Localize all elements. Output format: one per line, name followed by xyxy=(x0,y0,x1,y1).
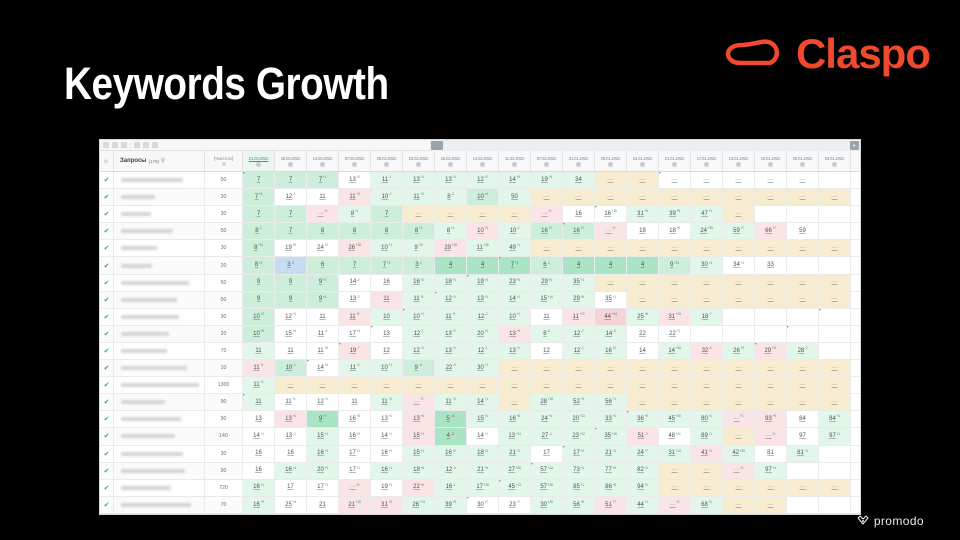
position-cell[interactable] xyxy=(755,326,787,342)
position-cell[interactable]: 11+38 xyxy=(467,240,499,256)
position-cell[interactable]: — xyxy=(819,292,851,308)
position-cell[interactable]: 7+1 xyxy=(499,257,531,273)
position-cell[interactable] xyxy=(787,497,819,513)
toolbar-icon-group[interactable] xyxy=(100,142,158,148)
position-cell[interactable]: 16+2 xyxy=(403,275,435,291)
header-date-column[interactable]: 21.01.2022 xyxy=(659,151,691,171)
position-cell[interactable]: 11 xyxy=(307,309,339,325)
position-cell[interactable]: — xyxy=(403,206,435,222)
position-cell[interactable]: — xyxy=(659,240,691,256)
position-cell[interactable]: 12-2 xyxy=(563,326,595,342)
position-cell[interactable]: 16+9 xyxy=(243,497,275,513)
position-cell[interactable]: 21 xyxy=(307,497,339,513)
position-cell[interactable]: — xyxy=(819,394,851,410)
position-cell[interactable]: 20+13 xyxy=(563,411,595,427)
position-cell[interactable]: 8-6 xyxy=(531,326,563,342)
position-cell[interactable]: — xyxy=(659,189,691,205)
position-cell[interactable]: — xyxy=(787,360,819,376)
position-cell[interactable]: 16 xyxy=(563,206,595,222)
position-cell[interactable]: 50 xyxy=(499,189,531,205)
keyword-cell[interactable] xyxy=(114,463,205,479)
position-cell[interactable]: — xyxy=(691,172,723,188)
chevron-right-icon[interactable] xyxy=(850,141,859,150)
position-cell[interactable]: 25+6 xyxy=(627,309,659,325)
position-cell[interactable]: 11+3 xyxy=(339,189,371,205)
position-cell[interactable]: — xyxy=(595,189,627,205)
keyword-cell[interactable] xyxy=(114,480,205,496)
column-menu-icon[interactable] xyxy=(832,162,837,167)
position-cell[interactable]: 47+1 xyxy=(691,206,723,222)
position-cell[interactable]: 11 xyxy=(531,309,563,325)
position-cell[interactable]: — xyxy=(627,275,659,291)
position-cell[interactable]: 16+2 xyxy=(339,428,371,444)
position-cell[interactable]: 33+4 xyxy=(595,411,627,427)
column-menu-icon[interactable] xyxy=(480,162,485,167)
position-cell[interactable]: — xyxy=(307,377,339,393)
position-cell[interactable]: 17+4 xyxy=(563,446,595,462)
position-cell[interactable]: 7 xyxy=(243,172,275,188)
position-cell[interactable] xyxy=(755,206,787,222)
position-cell[interactable]: 28+15 xyxy=(531,394,563,410)
position-cell[interactable]: 80+1 xyxy=(691,411,723,427)
position-cell[interactable]: 11+3 xyxy=(371,394,403,410)
position-cell[interactable]: 9 xyxy=(243,275,275,291)
column-menu-icon[interactable] xyxy=(640,162,645,167)
position-cell[interactable] xyxy=(723,309,755,325)
position-cell[interactable]: — xyxy=(435,377,467,393)
table-row[interactable]: ✔70111111+819-71212+113+112-113+11212-21… xyxy=(100,343,860,360)
position-cell[interactable] xyxy=(819,206,851,222)
position-cell[interactable]: — xyxy=(723,172,755,188)
spreadsheet-toolbar[interactable] xyxy=(100,140,860,151)
position-cell[interactable]: 73+4 xyxy=(563,463,595,479)
filter-icon[interactable] xyxy=(121,142,127,148)
position-cell[interactable]: 11-6 xyxy=(307,326,339,342)
position-cell[interactable] xyxy=(787,309,819,325)
row-check-icon[interactable]: ✔ xyxy=(100,480,114,496)
position-cell[interactable]: 59+7 xyxy=(723,223,755,239)
position-cell[interactable]: 12-1 xyxy=(467,343,499,359)
row-check-icon[interactable]: ✔ xyxy=(100,309,114,325)
position-cell[interactable] xyxy=(819,446,851,462)
position-cell[interactable]: 12+1 xyxy=(403,343,435,359)
position-cell[interactable]: 15+1 xyxy=(467,411,499,427)
position-cell[interactable]: 14+1 xyxy=(499,292,531,308)
position-cell[interactable]: — xyxy=(691,275,723,291)
position-cell[interactable]: 14+1 xyxy=(467,394,499,410)
position-cell[interactable]: 8+1 xyxy=(339,206,371,222)
position-cell[interactable] xyxy=(787,206,819,222)
row-check-icon[interactable]: ✔ xyxy=(100,292,114,308)
position-cell[interactable]: 24+35 xyxy=(691,223,723,239)
position-cell[interactable] xyxy=(787,463,819,479)
position-cell[interactable]: 68+1 xyxy=(691,497,723,513)
position-cell[interactable]: 51+7 xyxy=(595,497,627,513)
position-cell[interactable]: 13+2 xyxy=(339,172,371,188)
position-cell[interactable]: 19+5 xyxy=(275,240,307,256)
position-cell[interactable]: — xyxy=(787,189,819,205)
position-cell[interactable]: — xyxy=(563,377,595,393)
header-date-column[interactable]: 05.01.2022 xyxy=(787,151,819,171)
position-cell[interactable]: — xyxy=(787,240,819,256)
position-cell[interactable]: 4 xyxy=(435,257,467,273)
column-menu-icon[interactable] xyxy=(416,162,421,167)
grid-icon[interactable] xyxy=(112,142,118,148)
position-cell[interactable]: — xyxy=(595,377,627,393)
position-cell[interactable]: 9+7 xyxy=(307,411,339,427)
position-cell[interactable]: 12+1 xyxy=(435,292,467,308)
position-cell[interactable]: 93+9 xyxy=(755,411,787,427)
position-cell[interactable]: 49+1 xyxy=(499,240,531,256)
position-cell[interactable]: 14+18 xyxy=(659,343,691,359)
column-menu-icon[interactable] xyxy=(800,162,805,167)
header-date-column[interactable]: 31.01.2022 xyxy=(563,151,595,171)
position-cell[interactable]: — xyxy=(499,206,531,222)
header-date-column[interactable]: 29.01.2022 xyxy=(595,151,627,171)
position-cell[interactable]: 16+1 xyxy=(371,446,403,462)
settings-icon[interactable] xyxy=(143,142,149,148)
position-cell[interactable]: — xyxy=(691,189,723,205)
row-check-icon[interactable]: ✔ xyxy=(100,377,114,393)
position-cell[interactable]: — xyxy=(723,206,755,222)
position-cell[interactable] xyxy=(819,309,851,325)
position-cell[interactable]: 11 xyxy=(307,189,339,205)
position-cell[interactable]: 97+4 xyxy=(755,463,787,479)
position-cell[interactable]: 56+1 xyxy=(595,394,627,410)
position-cell[interactable]: — xyxy=(659,172,691,188)
position-cell[interactable]: 10+2 xyxy=(243,309,275,325)
position-cell[interactable]: 27+30 xyxy=(499,463,531,479)
position-cell[interactable] xyxy=(787,326,819,342)
column-menu-icon[interactable] xyxy=(448,162,453,167)
magnifier-icon[interactable]: ⚲ xyxy=(161,158,165,164)
position-cell[interactable]: 13-2 xyxy=(339,292,371,308)
position-cell[interactable]: 45+40 xyxy=(659,411,691,427)
position-cell[interactable]: 11 xyxy=(371,292,403,308)
column-menu-icon[interactable] xyxy=(512,162,517,167)
position-cell[interactable]: 19+5 xyxy=(531,172,563,188)
position-cell[interactable]: 10+5 xyxy=(243,326,275,342)
position-cell[interactable]: 12-9 xyxy=(435,463,467,479)
position-cell[interactable]: 20+3 xyxy=(307,463,339,479)
position-cell[interactable]: 4 xyxy=(563,257,595,273)
position-cell[interactable]: 11+3 xyxy=(403,189,435,205)
position-cell[interactable]: — xyxy=(787,394,819,410)
position-cell[interactable] xyxy=(819,497,851,513)
position-cell[interactable]: — xyxy=(499,360,531,376)
position-cell[interactable]: 31+8 xyxy=(627,206,659,222)
position-cell[interactable]: —+1 xyxy=(307,206,339,222)
position-cell[interactable]: — xyxy=(659,292,691,308)
row-check-icon[interactable]: ✔ xyxy=(100,343,114,359)
header-date-column[interactable]: 24.01.2022 xyxy=(627,151,659,171)
header-date-column[interactable]: 18.03.2022 xyxy=(275,151,307,171)
table-row[interactable]: ✔9010+212+11111+11010+111+112-210+11111+… xyxy=(100,309,860,326)
position-cell[interactable]: — xyxy=(563,189,595,205)
position-cell[interactable]: — xyxy=(691,377,723,393)
position-cell[interactable]: 14+1 xyxy=(467,428,499,444)
position-cell[interactable]: 9 xyxy=(275,275,307,291)
column-menu-icon[interactable] xyxy=(576,162,581,167)
position-cell[interactable]: 15+1 xyxy=(403,446,435,462)
position-cell[interactable]: — xyxy=(659,394,691,410)
position-cell[interactable]: 51-3 xyxy=(627,428,659,444)
position-cell[interactable]: 18-7 xyxy=(691,309,723,325)
position-cell[interactable]: 7+1 xyxy=(307,172,339,188)
position-cell[interactable]: 28-2 xyxy=(787,343,819,359)
position-cell[interactable]: 77+5 xyxy=(595,463,627,479)
position-cell[interactable]: — xyxy=(723,240,755,256)
position-cell[interactable]: 12-1 xyxy=(275,189,307,205)
position-cell[interactable]: 27-4 xyxy=(531,428,563,444)
position-cell[interactable]: — xyxy=(755,497,787,513)
position-cell[interactable]: — xyxy=(723,189,755,205)
position-cell[interactable]: 10+1 xyxy=(499,309,531,325)
position-cell[interactable]: 23+7 xyxy=(499,497,531,513)
position-cell[interactable]: 10-4 xyxy=(275,360,307,376)
header-date-column[interactable]: 23.02.2022 xyxy=(403,151,435,171)
position-cell[interactable]: 10+1 xyxy=(371,240,403,256)
position-cell[interactable]: —+1 xyxy=(339,480,371,496)
position-cell[interactable]: 11+3 xyxy=(435,394,467,410)
position-cell[interactable]: 16 xyxy=(243,463,275,479)
position-cell[interactable]: 13+1 xyxy=(403,172,435,188)
position-cell[interactable]: 4 xyxy=(627,257,659,273)
position-cell[interactable]: 17+4 xyxy=(339,326,371,342)
position-cell[interactable]: 11+1 xyxy=(339,309,371,325)
position-cell[interactable]: 18 xyxy=(627,223,659,239)
position-cell[interactable]: 13+7 xyxy=(435,326,467,342)
header-keyword-column[interactable]: Запросы (179) ⚲ xyxy=(114,151,205,171)
keyword-cell[interactable] xyxy=(114,189,205,205)
position-cell[interactable]: 12+2 xyxy=(467,172,499,188)
position-cell[interactable]: 5-10 xyxy=(435,411,467,427)
row-check-icon[interactable]: ✔ xyxy=(100,223,114,239)
position-cell[interactable]: — xyxy=(755,292,787,308)
position-cell[interactable]: 6 xyxy=(307,257,339,273)
position-cell[interactable]: 16+1 xyxy=(307,446,339,462)
position-cell[interactable]: 57+28 xyxy=(531,480,563,496)
position-cell[interactable] xyxy=(819,463,851,479)
keyword-cell[interactable] xyxy=(114,309,205,325)
position-cell[interactable] xyxy=(819,257,851,273)
keyword-cell[interactable] xyxy=(114,446,205,462)
table-row[interactable]: ✔901111+112+11111+3—+111+314+1—28+1552+6… xyxy=(100,394,860,411)
position-cell[interactable]: 15+1 xyxy=(403,428,435,444)
position-cell[interactable]: 10+3 xyxy=(467,223,499,239)
position-cell[interactable]: 42+39 xyxy=(723,446,755,462)
position-cell[interactable]: 7 xyxy=(275,172,307,188)
keyword-cell[interactable] xyxy=(114,326,205,342)
position-cell[interactable]: 11+8 xyxy=(307,343,339,359)
table-row[interactable]: ✔308+1119+524+226+1810+19-2029+1811+3849… xyxy=(100,240,860,257)
position-cell[interactable]: 21+10 xyxy=(339,497,371,513)
position-cell[interactable]: — xyxy=(627,240,659,256)
row-check-icon[interactable]: ✔ xyxy=(100,275,114,291)
position-cell[interactable]: — xyxy=(723,394,755,410)
position-cell[interactable]: 16+4 xyxy=(275,463,307,479)
position-cell[interactable]: — xyxy=(691,240,723,256)
position-cell[interactable]: 16 xyxy=(371,275,403,291)
position-cell[interactable] xyxy=(691,326,723,342)
position-cell[interactable]: — xyxy=(723,480,755,496)
position-cell[interactable]: 66+7 xyxy=(755,223,787,239)
position-cell[interactable]: 20+1 xyxy=(467,326,499,342)
position-cell[interactable]: 14+1 xyxy=(371,428,403,444)
position-cell[interactable]: 17+1 xyxy=(307,480,339,496)
position-cell[interactable]: — xyxy=(723,275,755,291)
position-cell[interactable]: 11-3 xyxy=(339,360,371,376)
row-check-icon[interactable]: ✔ xyxy=(100,360,114,376)
position-cell[interactable]: — xyxy=(531,189,563,205)
position-cell[interactable] xyxy=(755,309,787,325)
position-cell[interactable]: 19+3 xyxy=(371,480,403,496)
position-cell[interactable]: — xyxy=(787,377,819,393)
position-cell[interactable]: 16-1 xyxy=(435,480,467,496)
columns-icon[interactable] xyxy=(134,142,140,148)
position-cell[interactable]: 9 xyxy=(275,292,307,308)
position-cell[interactable]: — xyxy=(723,428,755,444)
position-cell[interactable]: 14+1 xyxy=(243,428,275,444)
table-row[interactable]: ✔2010+515+411-617+41312-113+720+113+58-6… xyxy=(100,326,860,343)
position-cell[interactable]: 22+1 xyxy=(659,326,691,342)
position-cell[interactable]: 19-7 xyxy=(339,343,371,359)
position-cell[interactable]: — xyxy=(659,275,691,291)
position-cell[interactable]: — xyxy=(499,394,531,410)
position-cell[interactable]: 12 xyxy=(371,343,403,359)
position-cell[interactable]: 19+4 xyxy=(467,275,499,291)
position-cell[interactable]: — xyxy=(691,292,723,308)
position-cell[interactable]: 29+6 xyxy=(531,275,563,291)
row-check-icon[interactable]: ✔ xyxy=(100,394,114,410)
position-cell[interactable]: —+1 xyxy=(595,223,627,239)
position-cell[interactable]: 8+11 xyxy=(243,240,275,256)
column-menu-icon[interactable] xyxy=(256,162,261,167)
position-cell[interactable]: 86+8 xyxy=(595,480,627,496)
position-cell[interactable]: 48+41 xyxy=(659,428,691,444)
table-row[interactable]: ✔50999+413-21111+112+113+114+115+1429+63… xyxy=(100,292,860,309)
position-cell[interactable]: — xyxy=(531,240,563,256)
position-cell[interactable]: 15+1 xyxy=(307,428,339,444)
position-cell[interactable]: 13+4 xyxy=(275,411,307,427)
position-cell[interactable]: — xyxy=(499,377,531,393)
keyword-cell[interactable] xyxy=(114,223,205,239)
column-menu-icon[interactable] xyxy=(352,162,357,167)
position-cell[interactable]: — xyxy=(531,360,563,376)
keyword-cell[interactable] xyxy=(114,394,205,410)
position-cell[interactable]: 13+1 xyxy=(371,411,403,427)
position-cell[interactable]: 85+1 xyxy=(563,480,595,496)
position-cell[interactable]: — xyxy=(819,360,851,376)
table-row[interactable]: ✔14014+113-215+116+214+115+14-1114+113+1… xyxy=(100,428,860,445)
position-cell[interactable]: 4 xyxy=(595,257,627,273)
position-cell[interactable]: 16+2 xyxy=(595,343,627,359)
position-cell[interactable] xyxy=(819,223,851,239)
position-cell[interactable]: 13+1 xyxy=(435,343,467,359)
position-cell[interactable]: 7 xyxy=(243,206,275,222)
position-cell[interactable]: 33 xyxy=(755,257,787,273)
header-date-column[interactable]: 10.01.2022 xyxy=(755,151,787,171)
header-date-column[interactable]: 14.03.2022 xyxy=(307,151,339,171)
position-cell[interactable]: 30+7 xyxy=(467,497,499,513)
row-check-icon[interactable]: ✔ xyxy=(100,411,114,427)
row-check-icon[interactable]: ✔ xyxy=(100,446,114,462)
position-cell[interactable]: 15+14 xyxy=(531,292,563,308)
column-menu-icon[interactable] xyxy=(736,162,741,167)
position-cell[interactable]: 16+1 xyxy=(563,223,595,239)
position-cell[interactable]: 26+3 xyxy=(723,343,755,359)
keyword-cell[interactable] xyxy=(114,172,205,188)
cursor-icon[interactable] xyxy=(103,142,109,148)
table-body[interactable]: ✔50777+113+211-113+113+112+214+519+534——… xyxy=(100,172,860,514)
position-cell[interactable]: — xyxy=(755,275,787,291)
table-row[interactable]: ✔130011+1—————————————————— xyxy=(100,377,860,394)
column-menu-icon[interactable] xyxy=(768,162,773,167)
keyword-cell[interactable] xyxy=(114,343,205,359)
column-menu-icon[interactable] xyxy=(384,162,389,167)
position-cell[interactable]: 15+4 xyxy=(275,326,307,342)
position-cell[interactable]: — xyxy=(627,189,659,205)
table-row[interactable]: ✔50777+113+211-113+113+112+214+519+534——… xyxy=(100,172,860,189)
position-cell[interactable]: 9+4 xyxy=(307,292,339,308)
position-cell[interactable]: 8 xyxy=(339,223,371,239)
position-cell[interactable]: 12-2 xyxy=(563,343,595,359)
position-cell[interactable]: 22 xyxy=(627,326,659,342)
position-cell[interactable]: — xyxy=(755,172,787,188)
position-cell[interactable]: — xyxy=(755,394,787,410)
position-cell[interactable]: — xyxy=(531,377,563,393)
position-cell[interactable]: — xyxy=(659,480,691,496)
position-cell[interactable]: — xyxy=(563,240,595,256)
position-cell[interactable]: 84 xyxy=(787,411,819,427)
position-cell[interactable]: 7 xyxy=(275,206,307,222)
position-cell[interactable]: 34+1 xyxy=(723,257,755,273)
position-cell[interactable]: 7+5 xyxy=(243,189,275,205)
position-cell[interactable]: 29+11 xyxy=(755,343,787,359)
position-cell[interactable]: 97 xyxy=(787,428,819,444)
position-cell[interactable]: — xyxy=(819,377,851,393)
position-cell[interactable]: —+1 xyxy=(531,206,563,222)
position-cell[interactable]: — xyxy=(467,377,499,393)
position-cell[interactable]: 9-20 xyxy=(403,240,435,256)
position-cell[interactable]: — xyxy=(659,360,691,376)
position-cell[interactable]: — xyxy=(787,275,819,291)
position-cell[interactable]: — xyxy=(595,360,627,376)
position-cell[interactable]: 31+13 xyxy=(659,309,691,325)
position-cell[interactable]: 23+6 xyxy=(499,275,531,291)
header-pin-column[interactable]: ☌ xyxy=(100,151,114,171)
position-cell[interactable]: — xyxy=(371,377,403,393)
position-cell[interactable]: 3-3 xyxy=(275,257,307,273)
position-cell[interactable]: 16+8 xyxy=(499,411,531,427)
position-cell[interactable]: 10+1 xyxy=(371,360,403,376)
position-cell[interactable]: 8-1 xyxy=(243,223,275,239)
position-cell[interactable]: 13+14 xyxy=(499,428,531,444)
position-cell[interactable]: 11+1 xyxy=(435,309,467,325)
header-date-column[interactable]: 14.02.2022 xyxy=(467,151,499,171)
position-cell[interactable]: 14+5 xyxy=(499,172,531,188)
position-cell[interactable] xyxy=(819,172,851,188)
position-cell[interactable]: — xyxy=(403,377,435,393)
table-row[interactable]: ✔3077—+18+17—————+11616+1531+839+847+1— xyxy=(100,206,860,223)
position-cell[interactable]: 39+8 xyxy=(659,206,691,222)
position-cell[interactable]: 4 xyxy=(467,257,499,273)
position-cell[interactable]: — xyxy=(563,360,595,376)
position-cell[interactable]: 34 xyxy=(563,172,595,188)
header-date-column[interactable]: 11.02.2022 xyxy=(499,151,531,171)
position-cell[interactable] xyxy=(723,326,755,342)
column-menu-icon[interactable] xyxy=(544,162,549,167)
